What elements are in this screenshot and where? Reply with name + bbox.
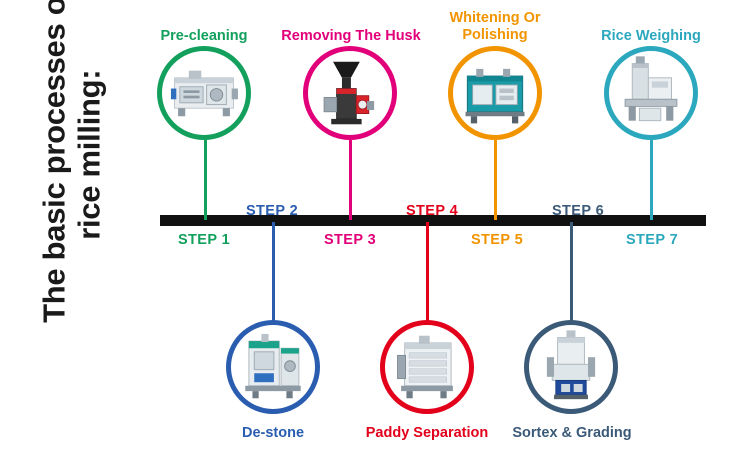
husk-removal-machine-icon [308,51,392,135]
whitening-polishing-machine-icon [453,51,537,135]
node-step-2[interactable] [226,320,320,414]
page-title-line-1: The basic processes of [37,0,72,345]
step-label-5: STEP 5 [437,232,557,248]
step-label-2: STEP 2 [212,203,332,219]
node-step-6[interactable] [524,320,618,414]
step-label-3: STEP 3 [290,232,410,248]
node-step-3[interactable] [303,46,397,140]
node-label-step-7: Rice Weighing [571,28,731,45]
step-label-7: STEP 7 [592,232,712,248]
page-title-line-2: rice milling: [72,0,107,345]
node-step-5[interactable] [448,46,542,140]
connector-step-6 [570,222,573,322]
page-title: The basic processes of rice milling: [37,0,106,345]
step-label-6: STEP 6 [518,203,638,219]
node-label-step-3: Removing The Husk [265,28,437,45]
connector-step-1 [204,140,207,220]
pre-cleaning-machine-icon [162,51,246,135]
node-step-1[interactable] [157,46,251,140]
node-label-step-6: Sortex & Grading [486,425,658,442]
de-stone-machine-icon [231,325,315,409]
node-label-step-2: De-stone [193,425,353,442]
rice-weighing-machine-icon [609,51,693,135]
infographic-canvas: The basic processes of rice milling: Pre… [0,0,735,475]
paddy-separator-machine-icon [385,325,469,409]
connector-step-2 [272,222,275,322]
node-label-step-4: Paddy Separation [347,425,507,442]
node-label-step-5: Whitening Or Polishing [430,10,560,43]
connector-step-7 [650,140,653,220]
connector-step-3 [349,140,352,220]
node-label-step-1: Pre-cleaning [124,28,284,45]
connector-step-5 [494,140,497,220]
node-step-4[interactable] [380,320,474,414]
sortex-grading-machine-icon [529,325,613,409]
step-label-4: STEP 4 [372,203,492,219]
connector-step-4 [426,222,429,322]
step-label-1: STEP 1 [144,232,264,248]
node-step-7[interactable] [604,46,698,140]
